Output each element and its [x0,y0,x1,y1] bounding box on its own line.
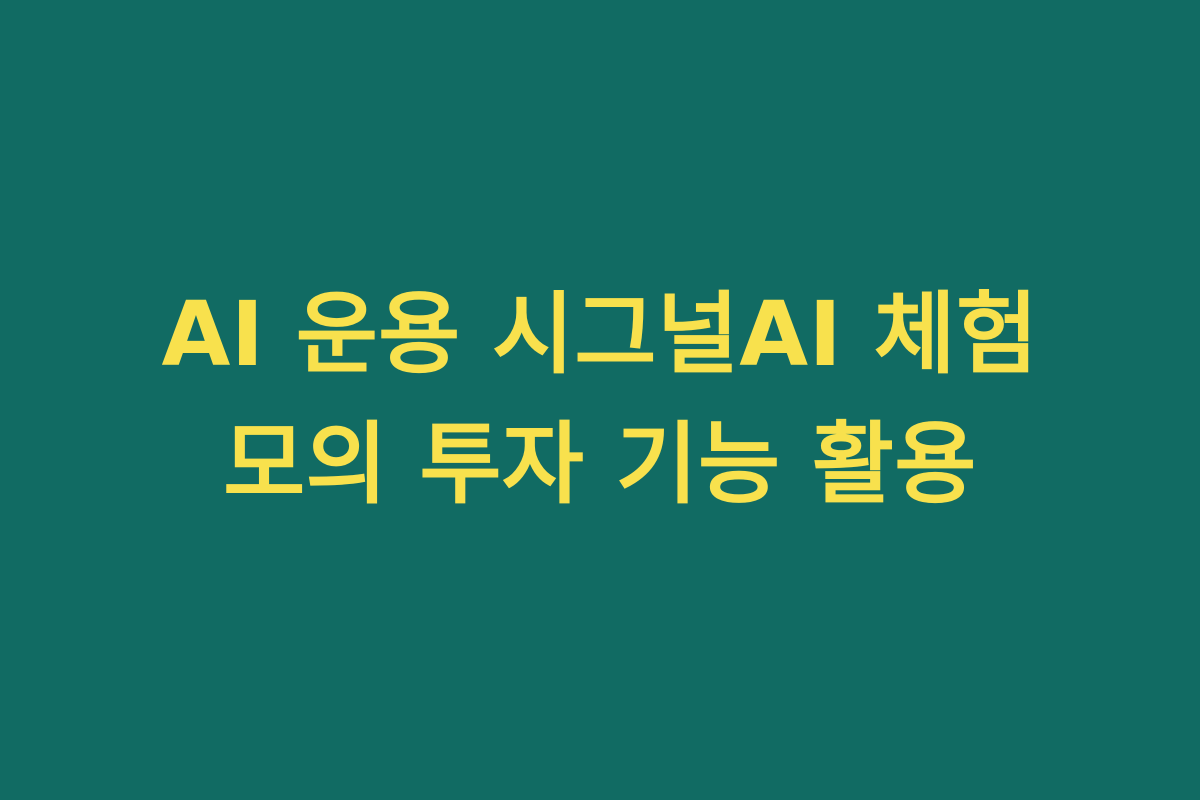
headline-line-1: AI 운용 시그널AI 체험 [40,269,1160,399]
headline-block: AI 운용 시그널AI 체험 모의 투자 기능 활용 [0,269,1200,529]
headline-line-2: 모의 투자 기능 활용 [40,399,1160,529]
title-banner: AI 운용 시그널AI 체험 모의 투자 기능 활용 [0,0,1200,800]
